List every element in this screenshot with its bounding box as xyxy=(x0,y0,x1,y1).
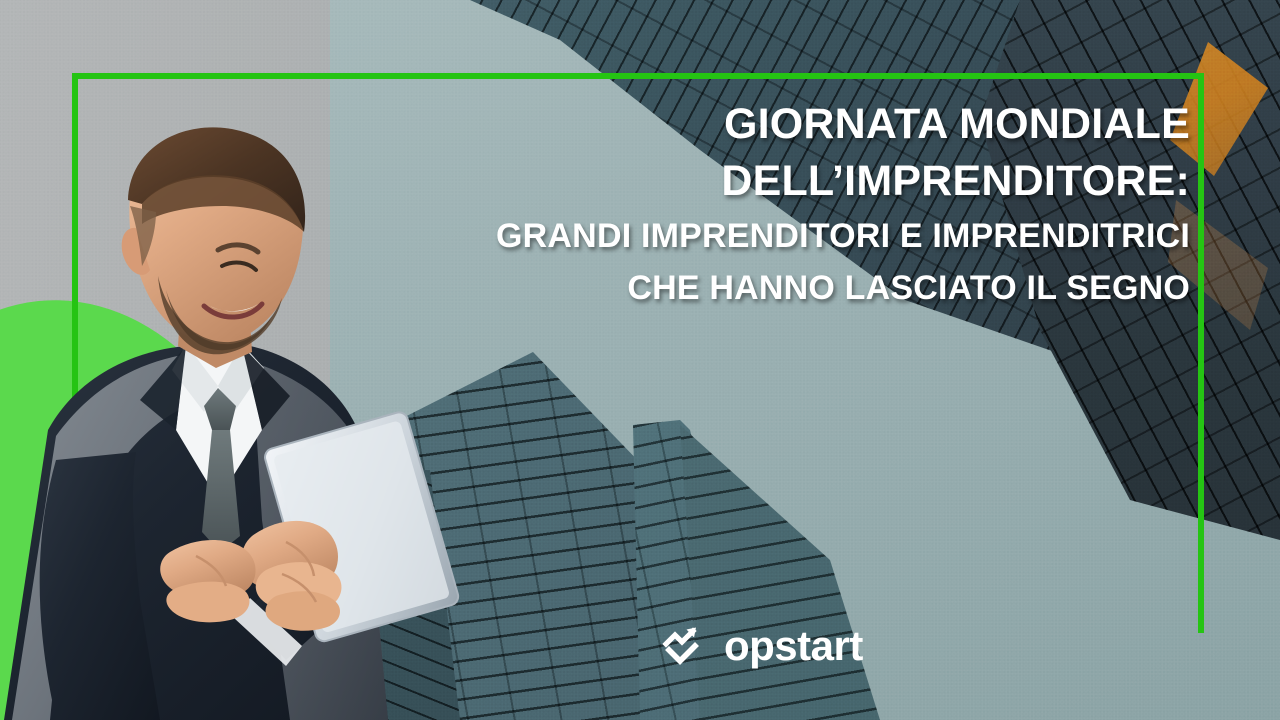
headline-line-2: DELL’IMPRENDITORE: xyxy=(410,153,1190,210)
poster-canvas: GIORNATA MONDIALE DELL’IMPRENDITORE: GRA… xyxy=(0,0,1280,720)
headline-line-1: GIORNATA MONDIALE xyxy=(410,96,1190,153)
businessman-photo xyxy=(0,100,460,720)
brand-logo: opstart xyxy=(662,622,863,670)
headline-block: GIORNATA MONDIALE DELL’IMPRENDITORE: GRA… xyxy=(410,96,1190,314)
headline-line-4: CHE HANNO LASCIATO IL SEGNO xyxy=(410,262,1190,314)
brand-name: opstart xyxy=(724,625,863,667)
growth-arrow-check-icon xyxy=(662,622,710,670)
headline-line-3: GRANDI IMPRENDITORI E IMPRENDITRICI xyxy=(410,210,1190,262)
